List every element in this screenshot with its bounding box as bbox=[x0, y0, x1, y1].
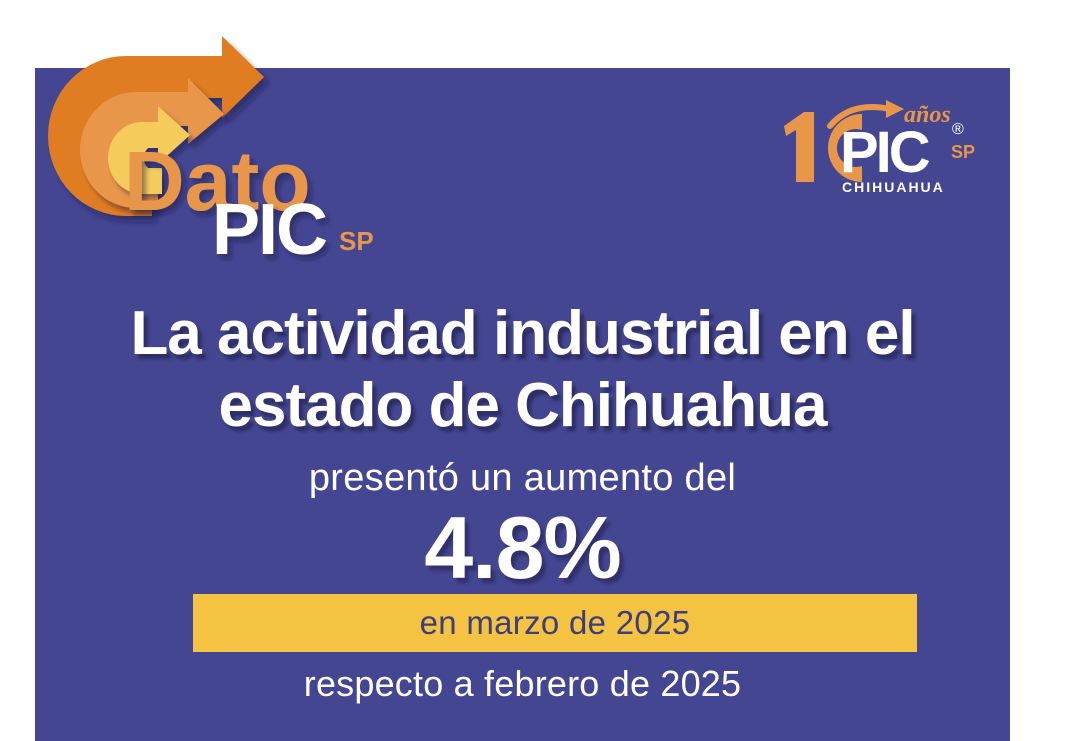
datopic-logo: Dato PIC SP bbox=[12, 22, 392, 262]
anniversary-registered-icon: ® bbox=[952, 121, 964, 138]
comparison-text: respecto a febrero de 2025 bbox=[35, 662, 1010, 706]
infographic-canvas: Dato PIC SP años PIC ® SP bbox=[0, 0, 1076, 741]
subheadline: presentó un aumento del bbox=[35, 455, 1010, 501]
datopic-superscript-sp: SP bbox=[339, 226, 374, 256]
anniversary-superscript-sp: SP bbox=[951, 142, 975, 162]
headline-line-1: La actividad industrial en el bbox=[35, 298, 1010, 370]
anniversary-word-pic: PIC bbox=[840, 120, 930, 185]
headline-line-2: estado de Chihuahua bbox=[35, 370, 1010, 442]
percentage-value: 4.8% bbox=[35, 500, 1010, 596]
highlight-banner-text: en marzo de 2025 bbox=[420, 604, 691, 642]
anniversary-location-label: CHIHUAHUA bbox=[842, 179, 945, 195]
highlight-banner: en marzo de 2025 bbox=[193, 594, 917, 652]
datopic-word-pic: PIC bbox=[212, 190, 327, 262]
anniversary-digit-one bbox=[784, 112, 814, 182]
anniversary-logo: años PIC ® SP CHIHUAHUA bbox=[770, 100, 1000, 200]
headline: La actividad industrial en el estado de … bbox=[35, 298, 1010, 442]
